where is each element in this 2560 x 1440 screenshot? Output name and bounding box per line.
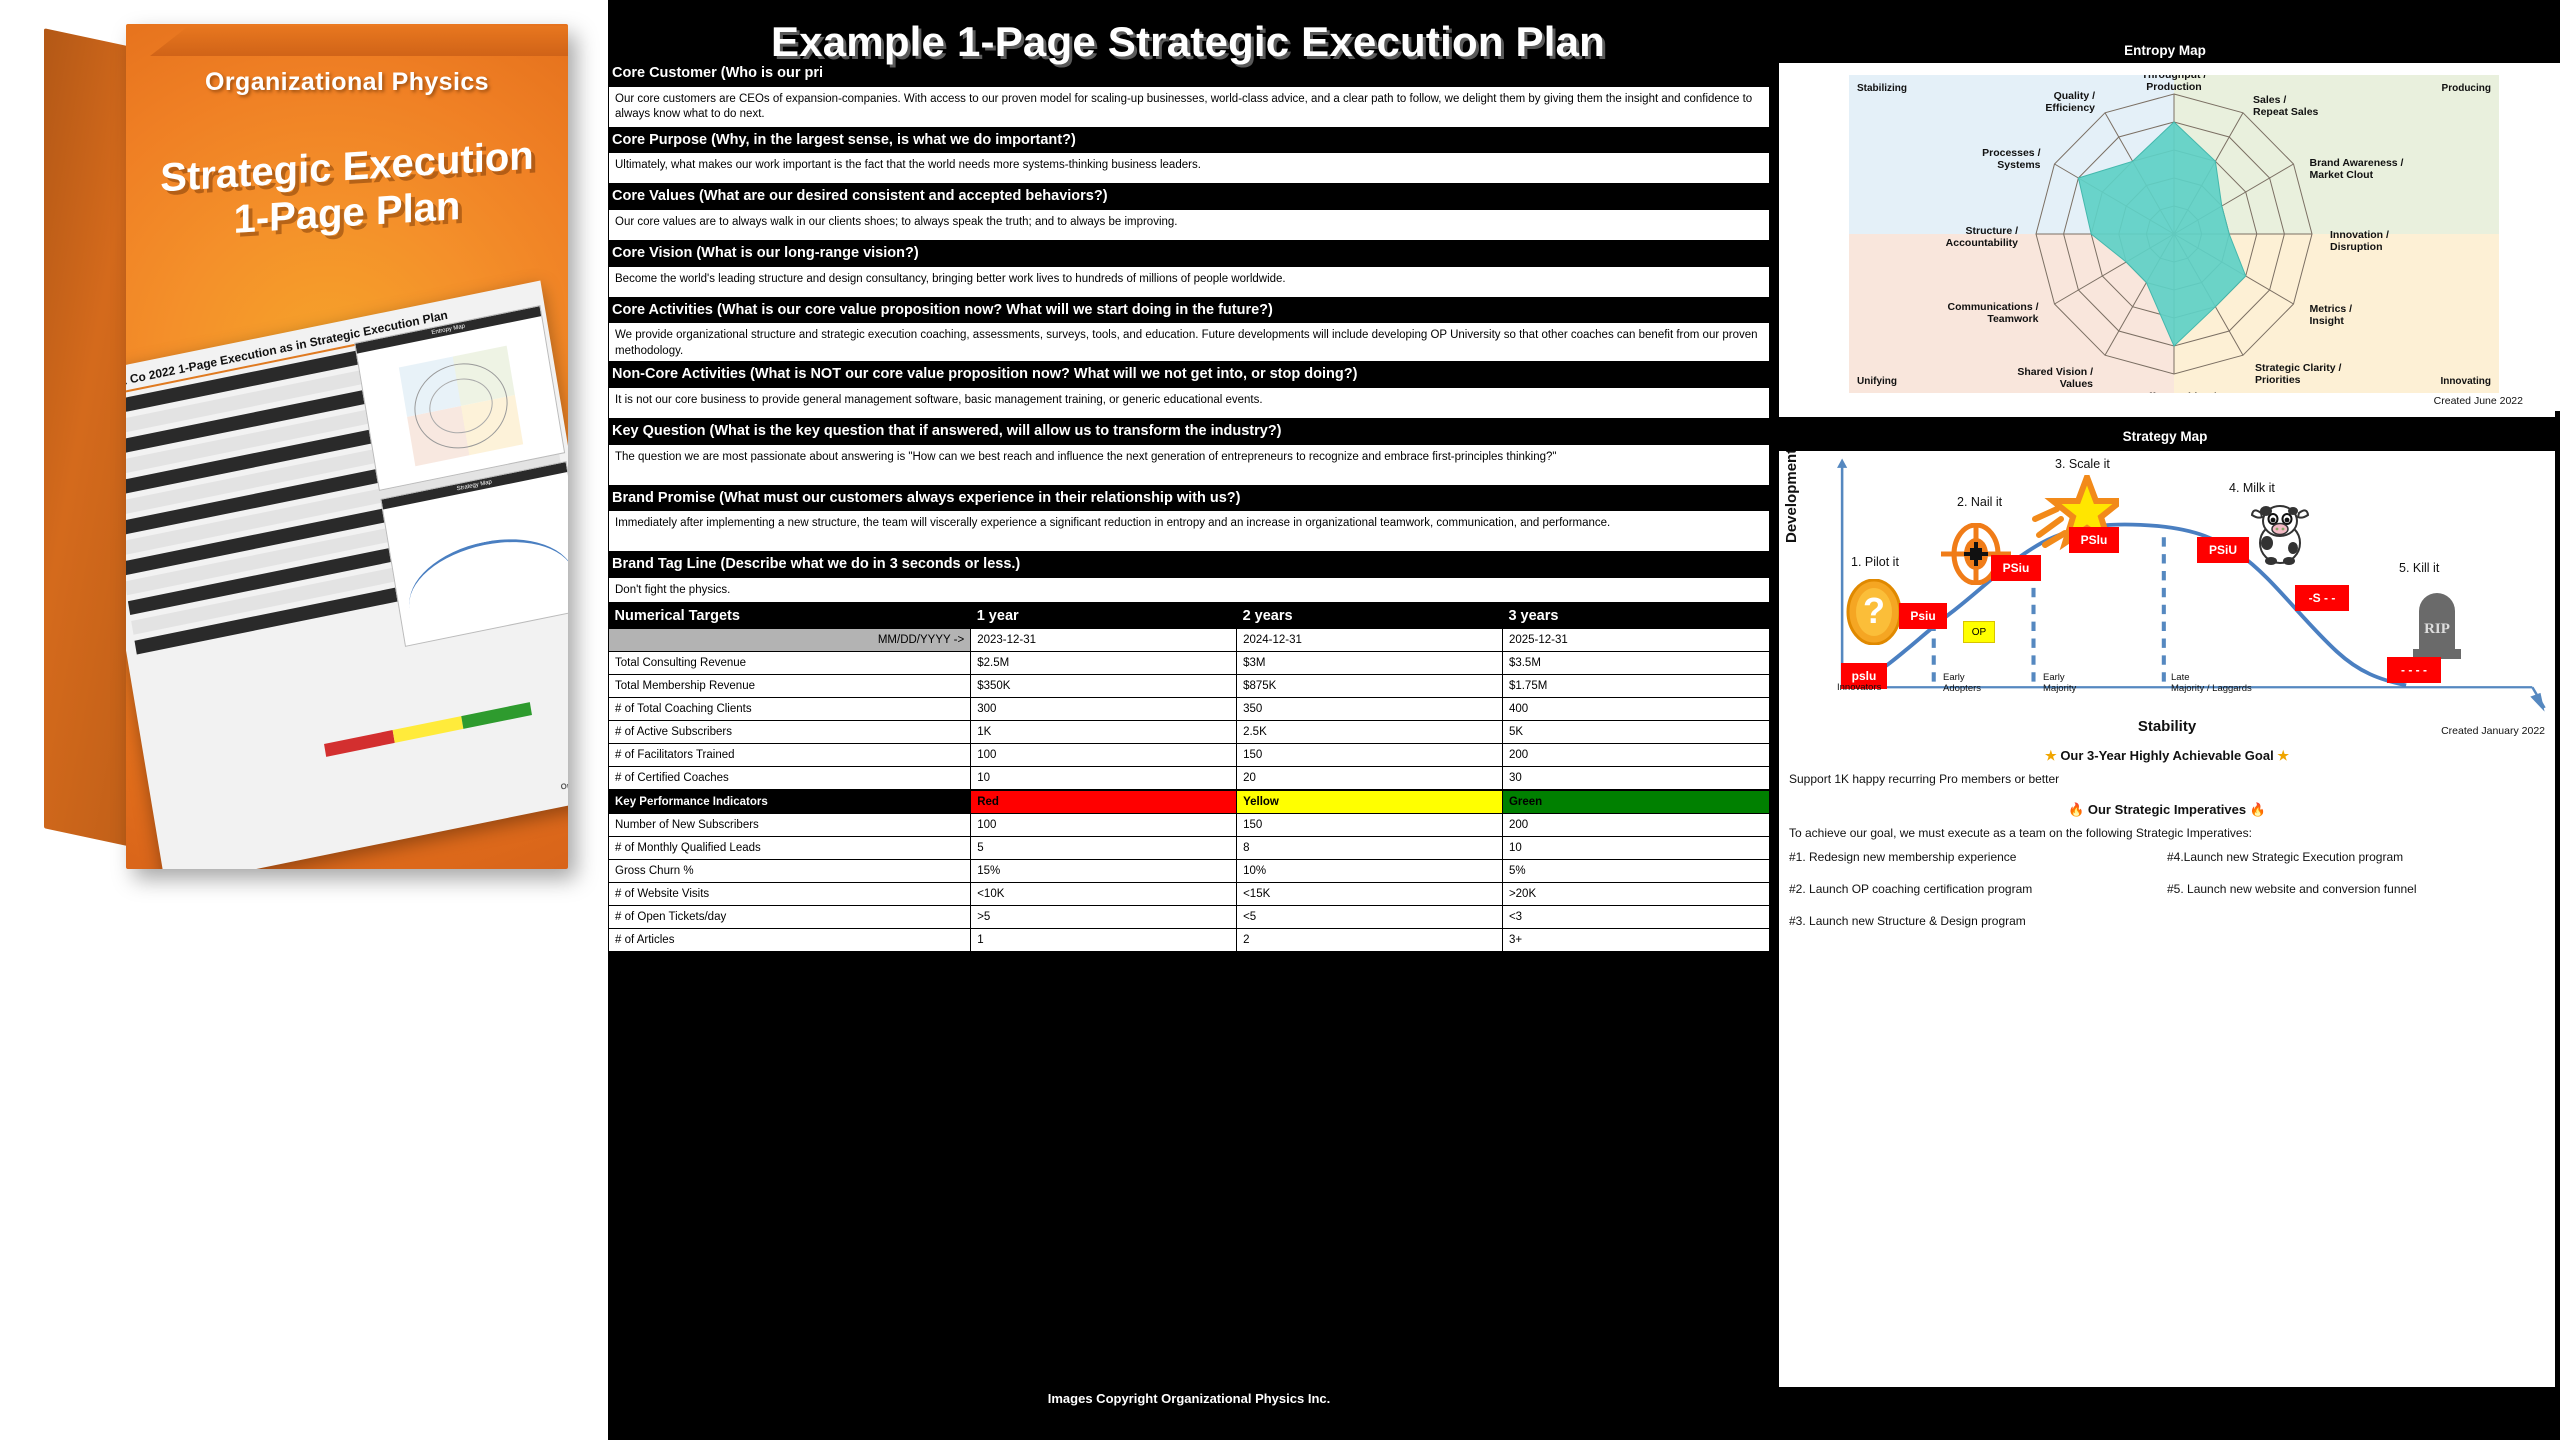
x-axis-label: Stability: [1779, 718, 2555, 735]
imperatives-title: 🔥 Our Strategic Imperatives 🔥: [1789, 802, 2545, 818]
kpi-col-red: Red: [971, 791, 1237, 814]
section-header-core-activities: Core Activities (What is our core value …: [608, 299, 1770, 324]
date-1-year: 2023-12-31: [971, 629, 1237, 652]
row-value-1: 15%: [971, 860, 1237, 883]
imperative-5: #5. Launch new website and conversion fu…: [2167, 882, 2545, 896]
section-header-core-purpose: Core Purpose (Why, in the largest sense,…: [608, 129, 1770, 154]
tombstone-icon: RIP: [2409, 585, 2465, 659]
row-value-1: 1K: [971, 721, 1237, 744]
row-value-2: 2.5K: [1237, 721, 1503, 744]
imperative-2: #2. Launch OP coaching certification pro…: [1789, 882, 2167, 896]
product-box-image: Organizational Physics Strategic Executi…: [0, 0, 608, 1440]
row-label: # of Total Coaching Clients: [609, 698, 971, 721]
radar-svg: Throughput /ProductionSales /Repeat Sale…: [1849, 75, 2499, 393]
row-value-3: $3.5M: [1502, 652, 1769, 675]
entropy-map-panel-title: Entropy Map: [1770, 38, 2560, 63]
kpi-table: Key Performance Indicators Red Yellow Gr…: [608, 790, 1770, 952]
row-label: # of Certified Coaches: [609, 767, 971, 790]
section-body-core-customer: Our core customers are CEOs of expansion…: [608, 87, 1770, 129]
radar-data-polygon: [2078, 122, 2245, 346]
svg-text:Communications /Teamwork: Communications /Teamwork: [1947, 301, 2038, 325]
kpi-title: Key Performance Indicators: [609, 791, 971, 814]
cow-icon: [2249, 503, 2311, 565]
kpi-col-yellow: Yellow: [1237, 791, 1503, 814]
screenshot-root: Organizational Physics Strategic Executi…: [0, 0, 2560, 1440]
sheet-kpi-strip: [324, 702, 532, 757]
svg-text:Throughput /Production: Throughput /Production: [2142, 75, 2207, 93]
date-2-years: 2024-12-31: [1237, 629, 1503, 652]
row-label: # of Facilitators Trained: [609, 744, 971, 767]
row-value-3: $1.75M: [1502, 675, 1769, 698]
segment-label-early-majority: Early Majority: [2043, 673, 2076, 695]
segment-label-early-adopters: Early Adopters: [1943, 673, 1981, 695]
table-row: Total Membership Revenue$350K$875K$1.75M: [609, 675, 1770, 698]
section-body-brand-tagline: Don't fight the physics.: [608, 578, 1770, 604]
section-header-core-customer: Core Customer (Who is our pri: [608, 62, 1770, 87]
row-value-2: 150: [1237, 744, 1503, 767]
row-value-2: 2: [1237, 929, 1503, 952]
strategy-created-date: Created January 2022: [2441, 725, 2545, 737]
box-front-face: Organizational Physics Strategic Executi…: [126, 24, 568, 869]
row-label: # of Articles: [609, 929, 971, 952]
section-header-brand-promise: Brand Promise (What must our customers a…: [608, 487, 1770, 512]
svg-text:Structure /Accountability: Structure /Accountability: [1946, 225, 2019, 249]
kpi-table-body: Key Performance Indicators Red Yellow Gr…: [609, 791, 1770, 952]
stage-label-pilot: 1. Pilot it: [1851, 555, 1899, 569]
marker-psiu-lower: Psiu: [1899, 603, 1947, 629]
goal-title: ★ Our 3-Year Highly Achievable Goal ★: [1789, 748, 2545, 764]
row-value-2: <5: [1237, 906, 1503, 929]
stage-label-milk: 4. Milk it: [2229, 481, 2275, 495]
table-row: MM/DD/YYYY -> 2023-12-31 2024-12-31 2025…: [609, 629, 1770, 652]
section-body-core-vision: Become the world's leading structure and…: [608, 267, 1770, 299]
section-header-core-vision: Core Vision (What is our long-range visi…: [608, 242, 1770, 267]
segment-label-late-majority: Late Majority / Laggards: [2171, 673, 2252, 695]
table-row: # of Articles123+: [609, 929, 1770, 952]
section-header-core-values: Core Values (What are our desired consis…: [608, 185, 1770, 210]
box-top-face: [150, 26, 568, 56]
stage-label-nail: 2. Nail it: [1957, 495, 2002, 509]
date-3-years: 2025-12-31: [1502, 629, 1769, 652]
sheet-logo: Organizational Physics: [560, 773, 568, 801]
marker-psiU: PSiU: [2197, 537, 2249, 563]
marker-psiu-upper: PSiu: [1991, 555, 2041, 581]
table-row: # of Certified Coaches102030: [609, 767, 1770, 790]
col-2-years: 2 years: [1237, 604, 1503, 629]
row-value-1: 300: [971, 698, 1237, 721]
tombstone-text: RIP: [2424, 621, 2450, 637]
row-value-3: 5K: [1502, 721, 1769, 744]
row-value-3: 400: [1502, 698, 1769, 721]
right-panel: Entropy Map Stabilizing Producing Unifyi…: [1770, 0, 2560, 1440]
row-value-1: 10: [971, 767, 1237, 790]
table-row: # of Open Tickets/day>5<5<3: [609, 906, 1770, 929]
kpi-col-green: Green: [1502, 791, 1769, 814]
svg-text:Sales /Repeat Sales: Sales /Repeat Sales: [2253, 94, 2319, 118]
date-format-label: MM/DD/YYYY ->: [609, 629, 971, 652]
row-value-3: 10: [1502, 837, 1769, 860]
numerical-targets-body: MM/DD/YYYY -> 2023-12-31 2024-12-31 2025…: [609, 629, 1770, 790]
star-icon: ★: [2045, 748, 2057, 763]
table-row: Total Consulting Revenue$2.5M$3M$3.5M: [609, 652, 1770, 675]
row-value-1: 5: [971, 837, 1237, 860]
imperatives-left-column: #1. Redesign new membership experience #…: [1789, 850, 2167, 946]
table-row: # of Facilitators Trained100150200: [609, 744, 1770, 767]
row-value-2: 8: [1237, 837, 1503, 860]
segment-label-innovators: Innovators: [1837, 683, 1881, 694]
row-value-3: 30: [1502, 767, 1769, 790]
box-3d: Organizational Physics Strategic Executi…: [22, 16, 582, 856]
row-value-3: <3: [1502, 906, 1769, 929]
section-body-brand-promise: Immediately after implementing a new str…: [608, 511, 1770, 553]
marker-s-decline: -S - -: [2295, 585, 2349, 611]
svg-text:Innovation /Disruption: Innovation /Disruption: [2330, 229, 2389, 253]
y-axis-label: Development: [1783, 451, 1800, 543]
section-body-non-core-activities: It is not our core business to provide g…: [608, 388, 1770, 420]
strategy-map-chart: Development Stability 1. Pilot it 2. Nai…: [1779, 451, 2555, 739]
row-value-2: 350: [1237, 698, 1503, 721]
svg-text:Quality /Efficiency: Quality /Efficiency: [2045, 90, 2095, 114]
kpi-header-row: Key Performance Indicators Red Yellow Gr…: [609, 791, 1770, 814]
stage-label-scale: 3. Scale it: [2055, 457, 2110, 471]
svg-text:Staff Recruiting /Retention: Staff Recruiting /Retention: [2132, 391, 2216, 393]
plan-column: Core Customer (Who is our pri Our core c…: [608, 0, 1770, 1440]
row-label: Total Membership Revenue: [609, 675, 971, 698]
sheet-mini-strategy: Strategy Map: [380, 461, 568, 647]
row-value-1: >5: [971, 906, 1237, 929]
row-label: # of Monthly Qualified Leads: [609, 837, 971, 860]
entropy-created-date: Created June 2022: [2434, 395, 2523, 407]
row-value-2: $875K: [1237, 675, 1503, 698]
strategy-map-panel: Development Stability 1. Pilot it 2. Nai…: [1778, 450, 2556, 740]
row-value-3: 200: [1502, 744, 1769, 767]
row-value-1: $2.5M: [971, 652, 1237, 675]
imperative-4: #4.Launch new Strategic Execution progra…: [2167, 850, 2545, 864]
col-1-year: 1 year: [971, 604, 1237, 629]
table-row: # of Total Coaching Clients300350400: [609, 698, 1770, 721]
svg-text:Strategic Clarity /Priorities: Strategic Clarity /Priorities: [2255, 362, 2341, 386]
copyright-footer: Images Copyright Organizational Physics …: [608, 1386, 1770, 1412]
numerical-targets-title: Numerical Targets: [609, 604, 971, 629]
section-body-core-purpose: Ultimately, what makes our work importan…: [608, 153, 1770, 185]
row-value-3: 200: [1502, 814, 1769, 837]
flame-icon: 🔥: [2250, 802, 2266, 817]
box-brand-label: Organizational Physics: [126, 68, 568, 97]
imperatives-intro: To achieve our goal, we must execute as …: [1789, 826, 2545, 840]
box-spine: [44, 28, 136, 848]
svg-text:?: ?: [1863, 590, 1885, 631]
box-title: Strategic Execution 1-Page Plan: [126, 130, 568, 250]
table-row: # of Website Visits<10K<15K>20K: [609, 883, 1770, 906]
marker-op: OP: [1963, 621, 1995, 643]
imperatives-grid: #1. Redesign new membership experience #…: [1789, 850, 2545, 946]
row-value-2: $3M: [1237, 652, 1503, 675]
entropy-radar-chart: Stabilizing Producing Unifying Innovatin…: [1779, 63, 2560, 411]
row-value-1: 1: [971, 929, 1237, 952]
table-row: # of Monthly Qualified Leads5810: [609, 837, 1770, 860]
star-icon: ★: [2277, 748, 2289, 763]
row-value-2: <15K: [1237, 883, 1503, 906]
row-value-2: 150: [1237, 814, 1503, 837]
svg-text:Shared Vision /Values: Shared Vision /Values: [2017, 366, 2093, 390]
row-label: # of Open Tickets/day: [609, 906, 971, 929]
stage-label-kill: 5. Kill it: [2399, 561, 2439, 575]
marker-dead: - - - -: [2387, 657, 2441, 683]
row-value-3: 3+: [1502, 929, 1769, 952]
table-row: Number of New Subscribers100150200: [609, 814, 1770, 837]
row-value-2: 10%: [1237, 860, 1503, 883]
goal-text: Support 1K happy recurring Pro members o…: [1789, 772, 2545, 786]
col-3-years: 3 years: [1502, 604, 1769, 629]
row-value-1: 100: [971, 814, 1237, 837]
mini-curve-icon: [401, 525, 568, 628]
section-body-key-question: The question we are most passionate abou…: [608, 445, 1770, 487]
numerical-targets-header-row: Numerical Targets 1 year 2 years 3 years: [609, 604, 1770, 629]
row-label: Gross Churn %: [609, 860, 971, 883]
svg-text:Metrics /Insight: Metrics /Insight: [2310, 303, 2353, 327]
section-body-core-activities: We provide organizational structure and …: [608, 323, 1770, 363]
mini-radar-icon: [399, 346, 523, 467]
imperative-1: #1. Redesign new membership experience: [1789, 850, 2167, 864]
flame-icon: 🔥: [2068, 802, 2084, 817]
svg-text:Brand Awareness /Market Clout: Brand Awareness /Market Clout: [2310, 157, 2404, 181]
section-header-brand-tagline: Brand Tag Line (Describe what we do in 3…: [608, 553, 1770, 578]
strategy-map-panel-title: Strategy Map: [1770, 424, 2560, 449]
row-value-3: >20K: [1502, 883, 1769, 906]
row-value-2: 20: [1237, 767, 1503, 790]
row-label: Number of New Subscribers: [609, 814, 971, 837]
table-row: # of Active Subscribers1K2.5K5K: [609, 721, 1770, 744]
box-sheet-preview: ACME Co 2022 1-Page Execution as in Stra…: [126, 281, 568, 869]
svg-text:Processes /Systems: Processes /Systems: [1982, 147, 2041, 171]
row-label: # of Website Visits: [609, 883, 971, 906]
row-label: Total Consulting Revenue: [609, 652, 971, 675]
goals-panel: ★ Our 3-Year Highly Achievable Goal ★ Su…: [1778, 740, 2556, 1388]
section-body-core-values: Our core values are to always walk in ou…: [608, 210, 1770, 242]
row-value-1: <10K: [971, 883, 1237, 906]
row-value-1: $350K: [971, 675, 1237, 698]
entropy-map-panel: Stabilizing Producing Unifying Innovatin…: [1778, 62, 2556, 418]
row-label: # of Active Subscribers: [609, 721, 971, 744]
numerical-targets-table: Numerical Targets 1 year 2 years 3 years…: [608, 604, 1770, 790]
imperatives-right-column: #4.Launch new Strategic Execution progra…: [2167, 850, 2545, 946]
section-header-key-question: Key Question (What is the key question t…: [608, 420, 1770, 445]
table-row: Gross Churn %15%10%5%: [609, 860, 1770, 883]
section-header-non-core-activities: Non-Core Activities (What is NOT our cor…: [608, 363, 1770, 388]
question-mark-icon: ?: [1845, 579, 1903, 645]
y-axis-arrowhead: [1837, 459, 1847, 468]
marker-pslu-top: PSlu: [2069, 527, 2119, 553]
row-value-3: 5%: [1502, 860, 1769, 883]
row-value-1: 100: [971, 744, 1237, 767]
imperative-3: #3. Launch new Structure & Design progra…: [1789, 914, 2167, 928]
